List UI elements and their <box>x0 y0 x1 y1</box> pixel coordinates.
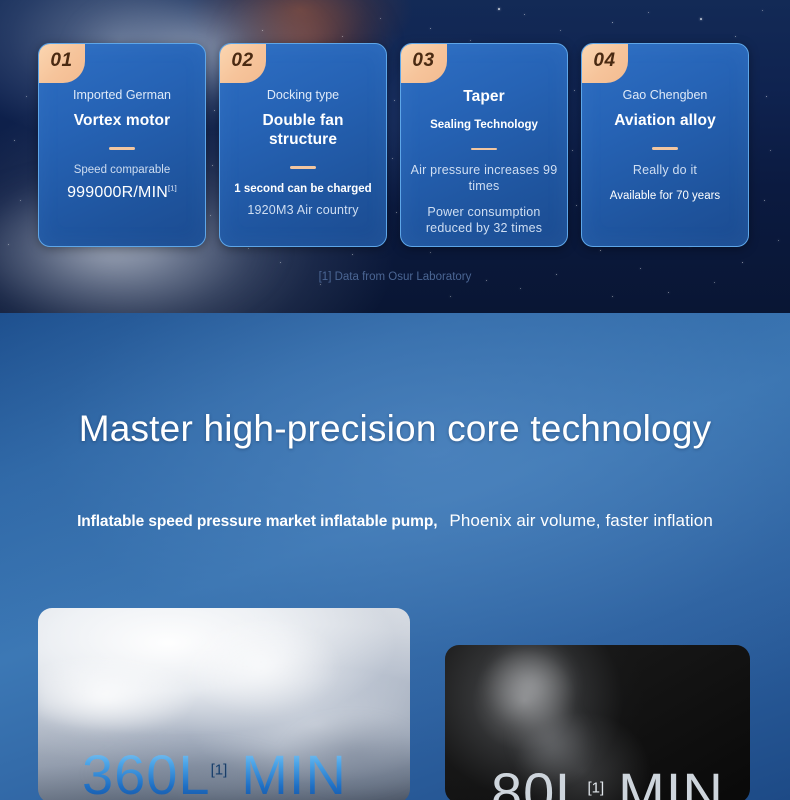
card-title: Double fan structure <box>227 112 379 150</box>
card-subtitle-top: Gao Chengben <box>589 88 741 103</box>
metric-unit: MIN <box>241 743 347 800</box>
card-stat-footnote-marker: [1] <box>168 183 177 192</box>
card-divider <box>471 148 497 151</box>
card-stat: 1920M3 Air country <box>227 202 379 218</box>
card-divider <box>290 166 316 169</box>
panel-metric-value: 360L[1]MIN <box>82 742 347 800</box>
card-body: Docking type Double fan structure 1 seco… <box>220 88 386 218</box>
card-title: Vortex motor <box>46 112 198 131</box>
metric-number: 80L <box>491 761 587 800</box>
metric-footnote-marker: [1] <box>211 761 228 778</box>
card-body: Imported German Vortex motor Speed compa… <box>39 88 205 202</box>
feature-card-03[interactable]: 03 Taper Sealing Technology Air pressure… <box>400 43 568 247</box>
card-badge-number: 01 <box>38 43 85 83</box>
card-divider <box>652 147 678 150</box>
feature-card-02[interactable]: 02 Docking type Double fan structure 1 s… <box>219 43 387 247</box>
comparison-panel-dark[interactable]: 80L[1]MIN <box>445 645 750 800</box>
page-title: Master high-precision core technology <box>0 408 790 450</box>
metric-number: 360L <box>82 743 211 800</box>
card-stat: Power consumption reduced by 32 times <box>408 205 560 237</box>
panel-metric-value: 80L[1]MIN <box>491 760 724 800</box>
feature-cards-row: 01 Imported German Vortex motor Speed co… <box>0 0 790 313</box>
subtitle-secondary: Phoenix air volume, faster inflation <box>449 511 712 530</box>
subtitle-primary: Inflatable speed pressure market inflata… <box>77 513 437 530</box>
card-subtitle-top: Imported German <box>46 88 198 103</box>
card-stat-value: 999000R/MIN <box>67 184 168 201</box>
card-badge-number: 04 <box>581 43 628 83</box>
card-subtitle-top: Docking type <box>227 88 379 103</box>
metric-unit: MIN <box>618 761 724 800</box>
metric-footnote-marker: [1] <box>587 779 604 796</box>
card-title: Aviation alloy <box>589 112 741 131</box>
feature-card-01[interactable]: 01 Imported German Vortex motor Speed co… <box>38 43 206 247</box>
feature-card-04[interactable]: 04 Gao Chengben Aviation alloy Really do… <box>581 43 749 247</box>
card-stat: 999000R/MIN[1] <box>46 183 198 203</box>
card-subtitle-bottom: Air pressure increases 99 times <box>408 163 560 194</box>
card-divider <box>109 147 135 150</box>
comparison-panel-light[interactable]: 360L[1]MIN <box>38 608 410 800</box>
card-title: Sealing Technology <box>408 118 560 132</box>
card-badge-number: 02 <box>219 43 266 83</box>
card-subtitle-bottom: 1 second can be charged <box>227 182 379 196</box>
data-source-footnote: [1] Data from Osur Laboratory <box>0 271 790 283</box>
card-stat-value: 1920M3 Air country <box>247 203 358 217</box>
card-body: Gao Chengben Aviation alloy Really do it… <box>582 88 748 203</box>
card-body: Taper Sealing Technology Air pressure in… <box>401 88 567 237</box>
card-subtitle-bottom: Really do it <box>589 163 741 178</box>
card-badge-number: 03 <box>400 43 447 83</box>
card-stat-value: Available for 70 years <box>610 190 720 202</box>
card-subtitle-bottom: Speed comparable <box>46 163 198 177</box>
card-stat-value: Power consumption reduced by 32 times <box>426 205 542 235</box>
card-subtitle-top: Taper <box>408 88 560 107</box>
subtitle-row: Inflatable speed pressure market inflata… <box>0 511 790 531</box>
card-stat: Available for 70 years <box>589 187 741 203</box>
promo-page: 01 Imported German Vortex motor Speed co… <box>0 0 790 800</box>
